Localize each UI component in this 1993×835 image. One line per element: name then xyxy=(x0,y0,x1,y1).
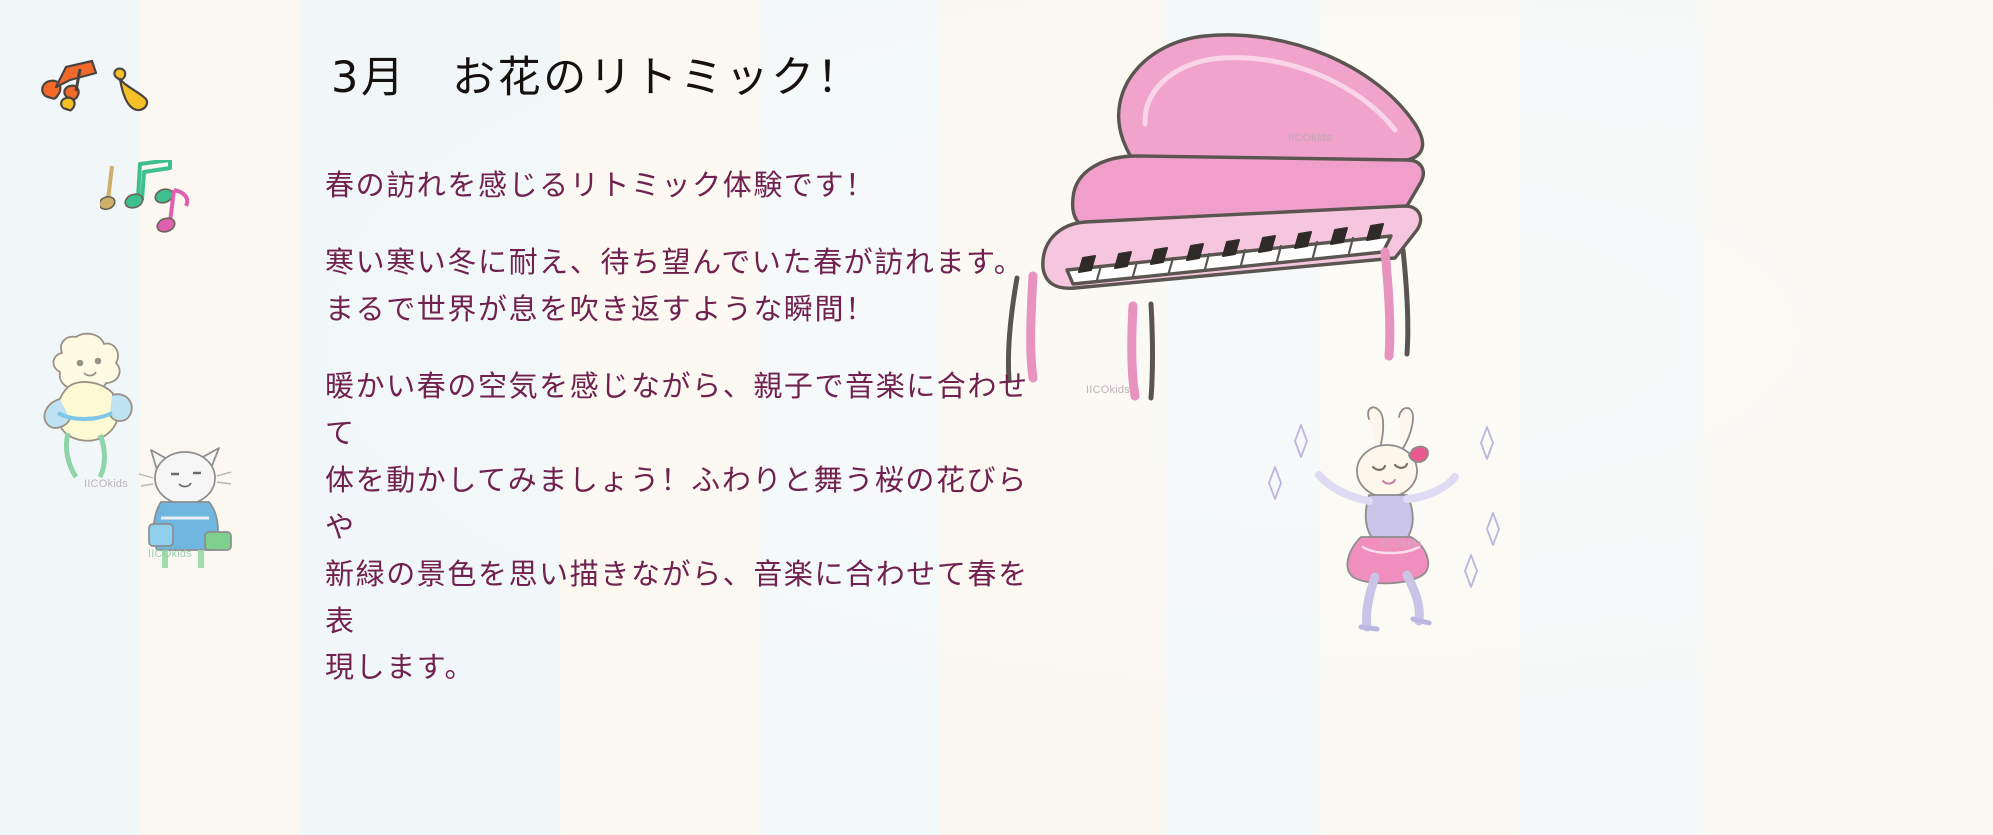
body-text-block: 春の訪れを感じるリトミック体験です！ 寒い寒い冬に耐え、待ち望んでいた春が訪れま… xyxy=(325,162,1045,692)
paragraph-1: 春の訪れを感じるリトミック体験です！ xyxy=(325,162,1045,209)
paragraph-2: 寒い寒い冬に耐え、待ち望んでいた春が訪れます。 まるで世界が息を吹き返すような瞬… xyxy=(325,239,1045,333)
slide-canvas: IICOkids IICOkids xyxy=(0,0,1993,835)
paragraph-3: 暖かい春の空気を感じながら、親子で音楽に合わせて 体を動かしてみましょう！ふわり… xyxy=(325,363,1045,692)
text-column: 3月 お花のリトミック！ 春の訪れを感じるリトミック体験です！ 寒い寒い冬に耐え… xyxy=(325,52,1045,691)
page-title: 3月 お花のリトミック！ xyxy=(331,52,1045,106)
